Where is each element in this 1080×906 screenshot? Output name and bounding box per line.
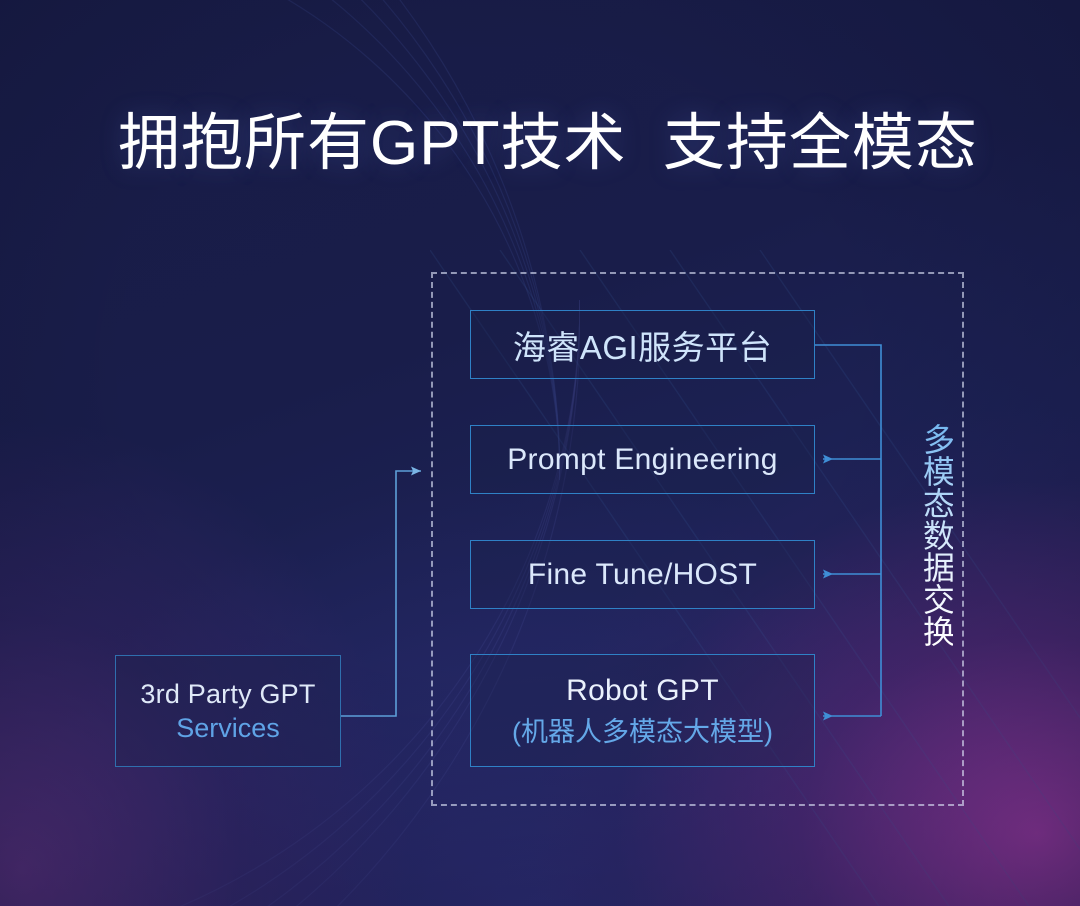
- node-prompt-engineering-label: Prompt Engineering: [507, 443, 778, 477]
- node-third-party-gpt[interactable]: 3rd Party GPT Services: [115, 655, 341, 767]
- node-third-party-gpt-sublabel: Services: [176, 713, 280, 744]
- node-fine-tune-host[interactable]: Fine Tune/HOST: [470, 540, 815, 609]
- node-robot-gpt-sublabel: (机器人多模态大模型): [512, 710, 773, 749]
- node-fine-tune-host-label: Fine Tune/HOST: [528, 558, 757, 592]
- node-third-party-gpt-label: 3rd Party GPT: [140, 679, 315, 710]
- vertical-exchange-label: 多模态数据交换: [913, 423, 953, 647]
- page-title: 拥抱所有GPT技术 支持全模态: [118, 108, 978, 180]
- slide-canvas: 拥抱所有GPT技术 支持全模态 海睿AGI服务平台 Prompt Enginee…: [0, 0, 1080, 906]
- node-platform-label: 海睿AGI服务平台: [513, 321, 772, 369]
- node-prompt-engineering[interactable]: Prompt Engineering: [470, 425, 815, 494]
- node-robot-gpt[interactable]: Robot GPT (机器人多模态大模型): [470, 654, 815, 767]
- node-robot-gpt-label: Robot GPT: [566, 674, 719, 708]
- node-platform[interactable]: 海睿AGI服务平台: [470, 310, 815, 379]
